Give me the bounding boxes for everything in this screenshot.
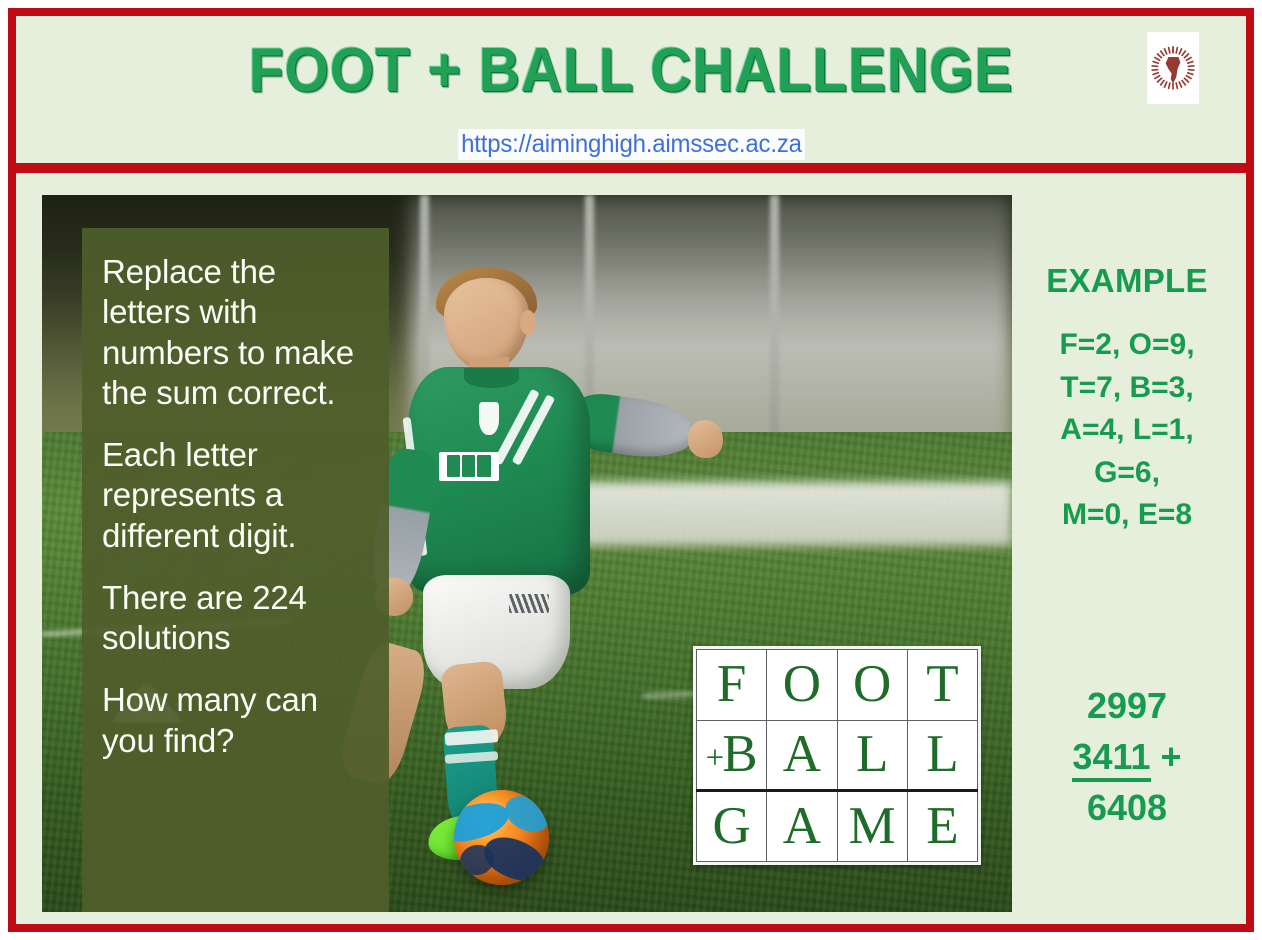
instruction-paragraph-1: Replace the letters with numbers to make… xyxy=(102,252,369,413)
page-title: FOOT + BALL CHALLENGE xyxy=(65,38,1197,103)
aimssec-logo xyxy=(1147,32,1199,104)
grid-cell-o1: O xyxy=(767,650,837,721)
grid-letter-b: B xyxy=(722,725,757,783)
grid-cell-b: +B xyxy=(697,720,767,791)
example-sum-second-row: 3411 + xyxy=(1016,731,1238,782)
example-sum-operator: + xyxy=(1151,736,1182,777)
header-band: FOOT + BALL CHALLENGE https://aiminghigh… xyxy=(16,16,1246,163)
instructions-panel: Replace the letters with numbers to make… xyxy=(82,228,389,912)
puzzle-grid: F O O T +B A L L G A M E xyxy=(693,646,981,865)
grid-cell-l1: L xyxy=(837,720,907,791)
table-row: +B A L L xyxy=(697,720,978,791)
example-assignment-5: M=0, E=8 xyxy=(1016,494,1238,537)
table-row: F O O T xyxy=(697,650,978,721)
example-assignment-2: T=7, B=3, xyxy=(1016,367,1238,410)
example-heading: EXAMPLE xyxy=(1016,262,1238,300)
website-link[interactable]: https://aiminghigh.aimssec.ac.za xyxy=(458,129,804,160)
grid-cell-t: T xyxy=(907,650,977,721)
poster-root: FOOT + BALL CHALLENGE https://aiminghigh… xyxy=(0,0,1262,940)
example-assignment-1: F=2, O=9, xyxy=(1016,324,1238,367)
instruction-paragraph-2: Each letter represents a different digit… xyxy=(102,435,369,556)
grid-cell-e: E xyxy=(907,791,977,862)
example-column: EXAMPLE F=2, O=9, T=7, B=3, A=4, L=1, G=… xyxy=(1016,262,1238,537)
ear xyxy=(520,310,536,335)
head xyxy=(444,278,530,369)
africa-sunburst-icon xyxy=(1150,37,1196,99)
example-sum-second: 3411 xyxy=(1072,736,1150,782)
url-wrapper: https://aiminghigh.aimssec.ac.za xyxy=(16,129,1246,160)
example-assignment-3: A=4, L=1, xyxy=(1016,409,1238,452)
grid-cell-o2: O xyxy=(837,650,907,721)
puzzle-grid-table: F O O T +B A L L G A M E xyxy=(696,649,978,862)
instruction-paragraph-3: There are 224 solutions xyxy=(102,578,369,659)
plus-operator: + xyxy=(706,740,725,776)
instruction-paragraph-4: How many can you find? xyxy=(102,680,369,761)
example-sum: 2997 3411 + 6408 xyxy=(1016,680,1238,833)
example-sum-first: 2997 xyxy=(1016,680,1238,731)
example-sum-total: 6408 xyxy=(1016,782,1238,833)
example-assignment-4: G=6, xyxy=(1016,452,1238,495)
jersey-sponsor-okd xyxy=(439,452,500,481)
header-divider xyxy=(16,163,1246,173)
club-crest xyxy=(479,402,499,435)
grid-cell-l2: L xyxy=(907,720,977,791)
grid-cell-a1: A xyxy=(767,720,837,791)
grid-cell-m: M xyxy=(837,791,907,862)
grid-cell-f: F xyxy=(697,650,767,721)
shorts-brand-mark xyxy=(509,594,549,613)
right-hand xyxy=(688,420,723,458)
football-ball xyxy=(454,790,549,885)
grid-cell-a2: A xyxy=(767,791,837,862)
grid-cell-g: G xyxy=(697,791,767,862)
table-row: G A M E xyxy=(697,791,978,862)
